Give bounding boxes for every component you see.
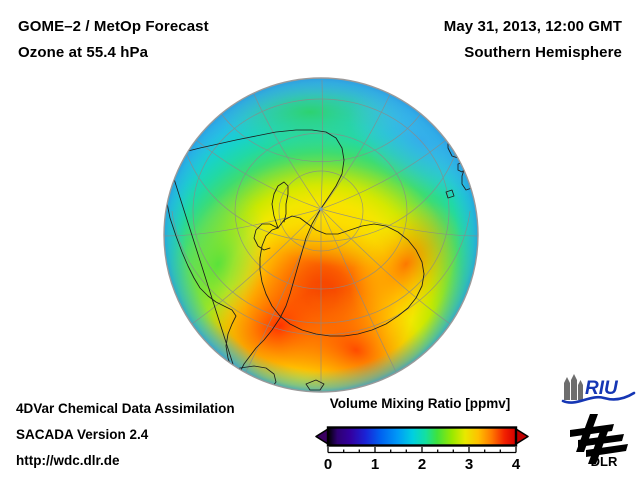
- colorbar-tick-label-2: 2: [418, 456, 426, 473]
- header-title-line1: GOME–2 / MetOp Forecast: [18, 18, 209, 35]
- riu-towers-icon: [564, 374, 583, 400]
- colorbar-axis: [328, 447, 516, 453]
- colorbar-tick-label-0: 0: [324, 456, 332, 473]
- footer-version: SACADA Version 2.4: [16, 427, 148, 442]
- globe-disc: [160, 74, 482, 396]
- riu-logo: RIU: [560, 374, 636, 406]
- footer-url[interactable]: http://wdc.dlr.de: [16, 453, 120, 468]
- colorbar-tick-label-1: 1: [371, 456, 379, 473]
- globe-map: [160, 74, 482, 396]
- pole-marker: [319, 207, 322, 210]
- colorbar-extend-high: [516, 429, 528, 444]
- header-datetime: May 31, 2013, 12:00 GMT: [444, 18, 622, 35]
- colorbar-gradient: [328, 428, 516, 446]
- colorbar: Volume Mixing Ratio [ppmv]: [300, 396, 540, 476]
- header-region: Southern Hemisphere: [464, 44, 622, 61]
- visualization-page: GOME–2 / MetOp Forecast Ozone at 55.4 hP…: [0, 0, 640, 480]
- dlr-logo-text: DLR: [591, 454, 618, 468]
- dlr-logo: DLR: [568, 412, 632, 468]
- riu-logo-text: RIU: [585, 378, 619, 399]
- colorbar-tick-label-3: 3: [465, 456, 473, 473]
- header-subtitle-line2: Ozone at 55.4 hPa: [18, 44, 148, 61]
- colorbar-extend-low: [316, 429, 328, 444]
- footer-method: 4DVar Chemical Data Assimilation: [16, 401, 235, 416]
- colorbar-tick-label-4: 4: [512, 456, 521, 473]
- colorbar-title: Volume Mixing Ratio [ppmv]: [300, 396, 540, 411]
